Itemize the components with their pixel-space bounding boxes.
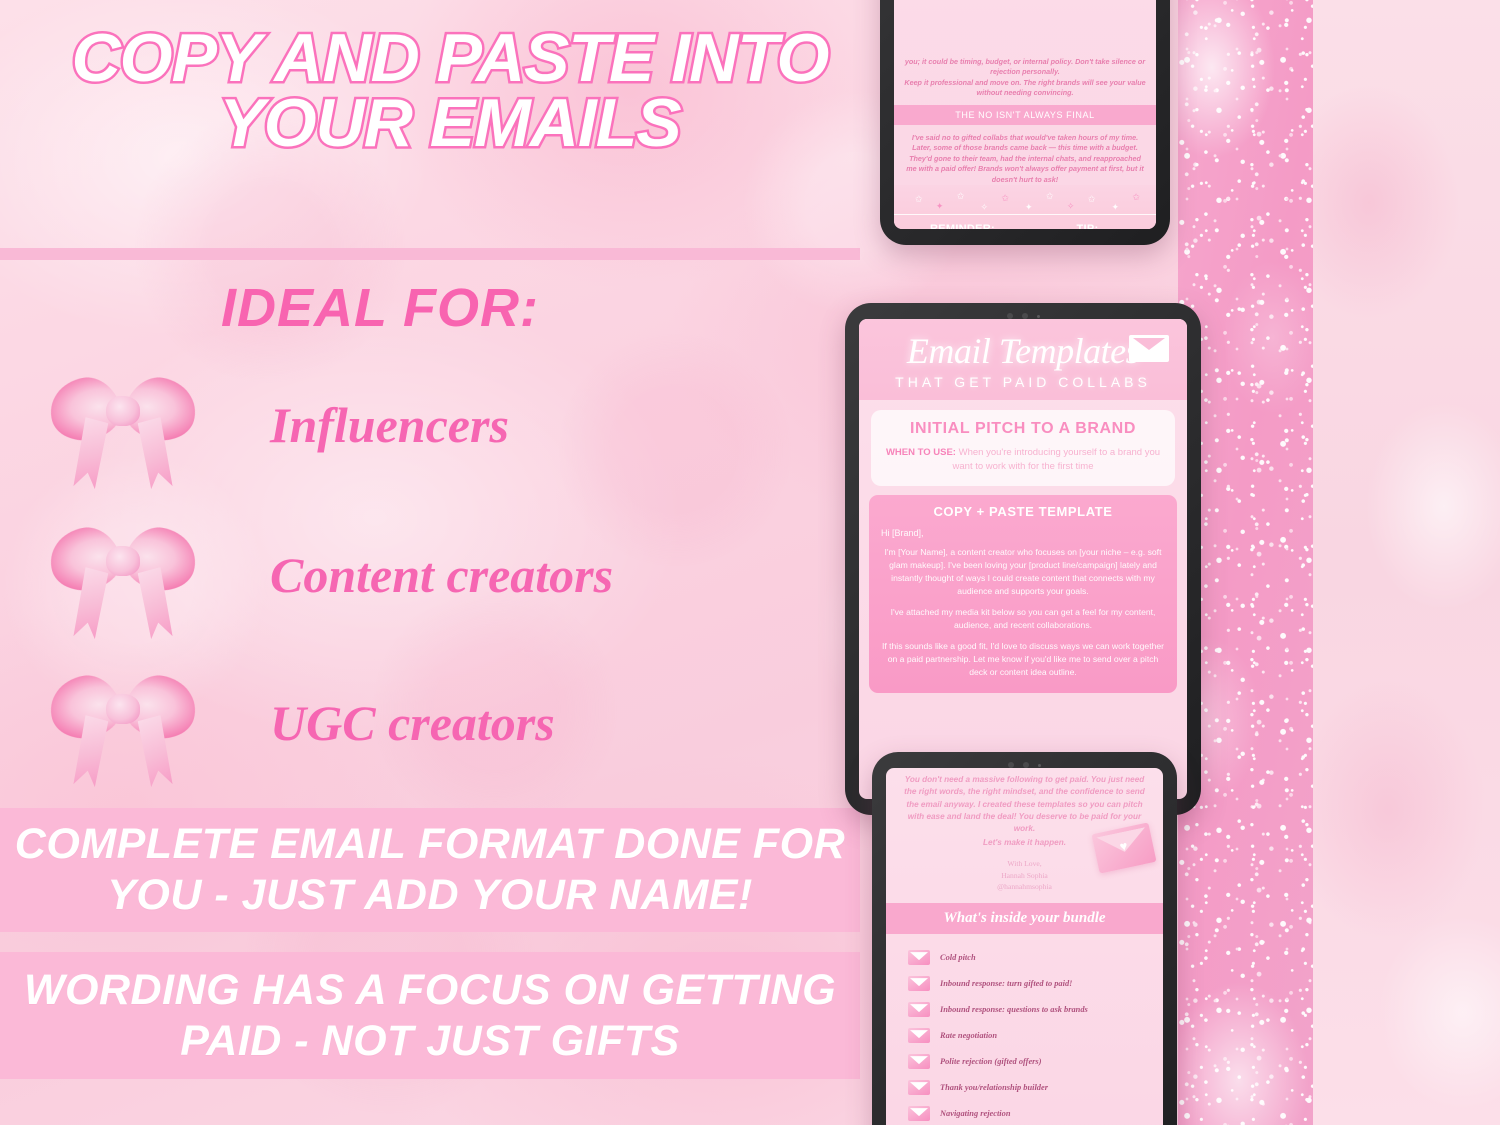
template-paragraph-1: I'm [Your Name], a content creator who f… [881,546,1165,598]
signoff-handle: @hannahmsophia [886,881,1163,893]
no-final-body: I've said no to gifted collabs that woul… [894,125,1156,185]
list-item-label: UGC creators [270,694,555,752]
template-paragraph-2: I've attached my media kit below so you … [881,606,1165,632]
section-divider [0,248,860,260]
list-item-influencers: Influencers [48,360,509,490]
list-item-ugc-creators: UGC creators [48,658,555,788]
tablet-mockup-top: you; it could be timing, budget, or inte… [880,0,1170,245]
list-item-label: Content creators [270,546,613,604]
when-to-use-text: When you're introducing yourself to a br… [953,447,1161,472]
poster-canvas: COPY AND PASTE INTO YOUR EMAILS IDEAL FO… [0,0,1500,1125]
envelope-icon [908,1002,930,1017]
bundle-item-label: Navigating rejection [940,1109,1010,1118]
intro-paragraph-1: you; it could be timing, budget, or inte… [904,57,1146,78]
signoff-name: Hannah Sophia [886,870,1163,882]
tablet-mockup-bottom: You don't need a massive following to ge… [872,752,1177,1125]
list-item: Rate negotiation [908,1028,1163,1043]
template-greeting: Hi [Brand], [881,528,1165,538]
feature-banner-format: COMPLETE EMAIL FORMAT DONE FOR YOU - JUS… [0,808,860,932]
bow-icon [48,510,198,640]
bundle-heading: What's inside your bundle [886,903,1163,934]
envelope-icon [908,950,930,965]
envelope-icon [908,1028,930,1043]
bow-icon [48,360,198,490]
copy-paste-template-block: COPY + PASTE TEMPLATE Hi [Brand], I'm [Y… [869,495,1177,694]
envelope-icon [908,1106,930,1121]
bundle-item-label: Cold pitch [940,953,976,962]
bundle-item-label: Polite rejection (gifted offers) [940,1057,1041,1066]
bundle-item-label: Thank you/relationship builder [940,1083,1048,1092]
brand-header: Email Templates THAT GET PAID COLLABS [859,319,1187,400]
template-paragraph-3: If this sounds like a good fit, I'd love… [881,640,1165,679]
tip-heading: TIP: [1025,223,1150,229]
bundle-item-label: Inbound response: questions to ask brand… [940,1005,1088,1014]
rejection-intro-text: you; it could be timing, budget, or inte… [894,51,1156,99]
right-watercolor-panel [1313,0,1500,1125]
intro-paragraph-2: Keep it professional and move on. The ri… [904,78,1146,99]
bundle-list: Cold pitch Inbound response: turn gifted… [886,934,1163,1125]
bundle-item-label: Rate negotiation [940,1031,997,1040]
list-item: Inbound response: questions to ask brand… [908,1002,1163,1017]
feature-banner-wording: WORDING HAS A FOCUS ON GETTING PAID - NO… [0,952,860,1079]
list-item: Thank you/relationship builder [908,1080,1163,1095]
when-to-use-label: WHEN TO USE: [886,447,956,458]
feature-banner-text: COMPLETE EMAIL FORMAT DONE FOR YOU - JUS… [0,819,860,920]
envelope-icon [908,1054,930,1069]
feature-banner-text: WORDING HAS A FOCUS ON GETTING PAID - NO… [0,965,860,1066]
headline-line-2: YOUR EMAILS [0,91,900,156]
page-title: COPY AND PASTE INTO YOUR EMAILS [0,26,900,157]
ideal-for-heading: IDEAL FOR: [0,277,760,339]
list-item-label: Influencers [270,396,509,454]
pitch-card: INITIAL PITCH TO A BRAND WHEN TO USE: Wh… [871,410,1175,486]
list-item: Polite rejection (gifted offers) [908,1054,1163,1069]
reminder-heading: REMINDER: [900,223,1025,229]
list-item: Inbound response: turn gifted to paid! [908,976,1163,991]
tablet-mockup-middle: Email Templates THAT GET PAID COLLABS IN… [845,303,1201,815]
when-to-use-row: WHEN TO USE: When you're introducing you… [881,446,1165,474]
list-item: Cold pitch [908,950,1163,965]
pitch-card-title: INITIAL PITCH TO A BRAND [881,420,1165,438]
section-bar-no-final: THE NO ISN'T ALWAYS FINAL [894,105,1156,125]
reminder-tip-section: REMINDER: TIP: A no now isn't always a n… [894,215,1156,229]
bow-icon [48,658,198,788]
list-item-content-creators: Content creators [48,510,613,640]
tablet-bottom-screen: You don't need a massive following to ge… [886,768,1163,1125]
list-item: Navigating rejection [908,1106,1163,1121]
brand-subtitle: THAT GET PAID COLLABS [859,374,1187,390]
envelope-icon [908,1080,930,1095]
bundle-item-label: Inbound response: turn gifted to paid! [940,979,1072,988]
star-decoration-band: ✩✦ ✩✧ ✩✦ ✩✧ ✩✦ ✩ [894,185,1156,215]
tablet-top-screen: you; it could be timing, budget, or inte… [894,0,1156,229]
envelope-icon [1129,335,1169,362]
tablet-middle-screen: Email Templates THAT GET PAID COLLABS IN… [859,319,1187,799]
closing-paragraph: You don't need a massive following to ge… [886,768,1163,835]
envelope-icon [908,976,930,991]
template-heading: COPY + PASTE TEMPLATE [881,504,1165,519]
